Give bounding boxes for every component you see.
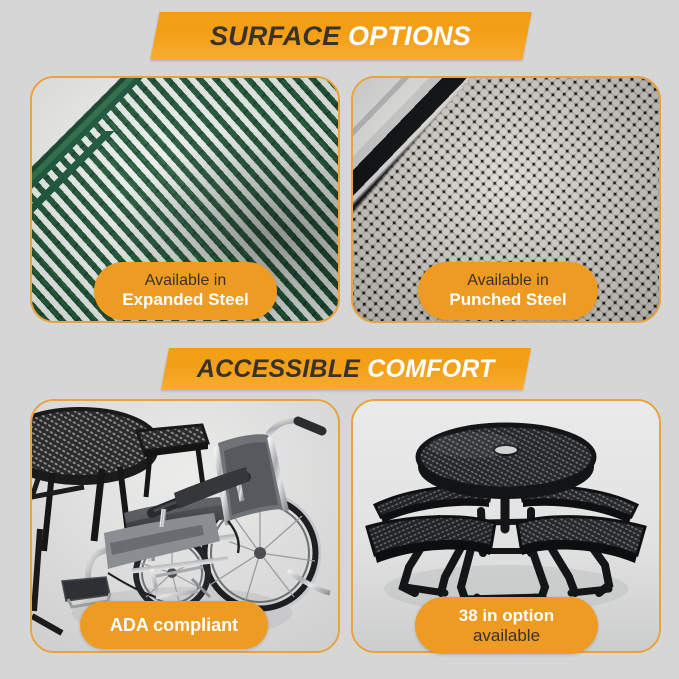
infographic-canvas: SURFACE OPTIONS Available in Expanded St… [0,0,679,679]
caption-punched-line-2: Punched Steel [449,290,566,310]
banner-accessible-comfort: ACCESSIBLE COMFORT [161,348,531,390]
caption-pill-punched-steel: Available in Punched Steel [418,262,598,320]
caption-expanded-line-2: Expanded Steel [122,290,249,310]
caption-ada-line-1: ADA compliant [110,615,238,636]
banner-surface-word-2: OPTIONS [349,21,472,51]
caption-punched-line-1: Available in [467,272,549,291]
caption-pill-expanded-steel: Available in Expanded Steel [94,262,277,320]
banner-accessible-comfort-text: ACCESSIBLE COMFORT [197,357,495,382]
banner-comfort-word-2: COMFORT [367,355,494,383]
banner-surface-options-text: SURFACE OPTIONS [210,23,471,50]
caption-round-line-1: 38 in option [459,606,554,626]
caption-pill-ada-compliant: ADA compliant [80,601,268,649]
banner-comfort-word-1: ACCESSIBLE [197,355,360,383]
caption-pill-38-in-option: 38 in option available [415,597,598,654]
banner-surface-options: SURFACE OPTIONS [150,12,531,60]
caption-round-line-2: available [473,626,540,646]
caption-expanded-line-1: Available in [145,272,227,291]
banner-surface-word-1: SURFACE [210,21,340,51]
